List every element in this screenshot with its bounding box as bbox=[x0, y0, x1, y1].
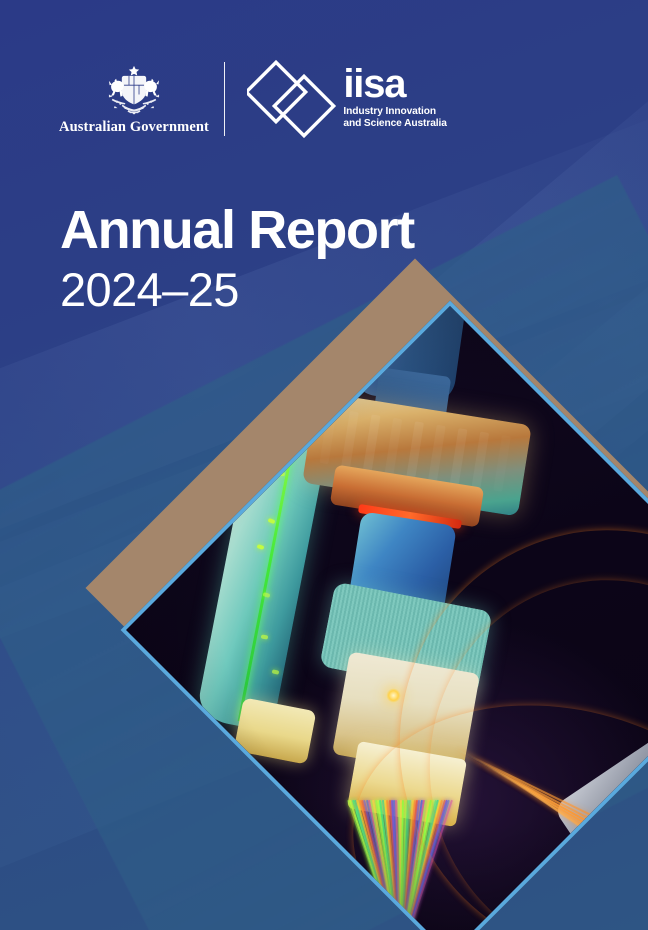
photo-flange-notch bbox=[450, 428, 468, 485]
photo-connector-sparkle bbox=[631, 831, 638, 838]
photo-rotation-container bbox=[220, 400, 648, 860]
australian-government-logo: Australian Government bbox=[58, 63, 210, 136]
photo-flange-notch bbox=[472, 432, 490, 489]
photo-flange-notch bbox=[428, 425, 446, 482]
photo-flange-notch bbox=[493, 435, 511, 492]
photo-connector-sparkle bbox=[622, 839, 629, 846]
fibre-optic-connector-macro-photograph bbox=[120, 300, 648, 930]
photo-tube-cap bbox=[234, 697, 317, 764]
photo-flange-notch bbox=[406, 421, 424, 478]
photo-flange-notch bbox=[363, 414, 381, 471]
iisa-double-diamond-icon bbox=[247, 59, 339, 139]
australian-government-label: Australian Government bbox=[59, 119, 209, 136]
iisa-tagline: Industry Innovation and Science Australi… bbox=[343, 106, 446, 130]
cover-title-block: Annual Report 2024–25 bbox=[60, 203, 414, 317]
iisa-tagline-line-1: Industry Innovation bbox=[343, 106, 446, 118]
iisa-wordmark: iisa Industry Innovation and Science Aus… bbox=[343, 68, 446, 129]
australian-coat-of-arms-icon bbox=[91, 63, 177, 116]
page-title: Annual Report bbox=[60, 203, 414, 258]
iisa-logo: iisa Industry Innovation and Science Aus… bbox=[247, 59, 446, 139]
iisa-name: iisa bbox=[343, 68, 446, 102]
vertical-divider-icon bbox=[224, 62, 225, 136]
iisa-tagline-line-2: and Science Australia bbox=[343, 118, 446, 130]
photo-light-dot bbox=[386, 688, 401, 703]
photo-flange-notch bbox=[385, 418, 403, 475]
cover-header: Australian Government iisa Industry Inno… bbox=[58, 56, 447, 142]
report-cover-page: Australian Government iisa Industry Inno… bbox=[0, 0, 648, 930]
photo-flange-notch bbox=[341, 411, 359, 468]
rotated-square-frame-icon bbox=[120, 300, 648, 930]
report-period: 2024–25 bbox=[60, 264, 414, 317]
